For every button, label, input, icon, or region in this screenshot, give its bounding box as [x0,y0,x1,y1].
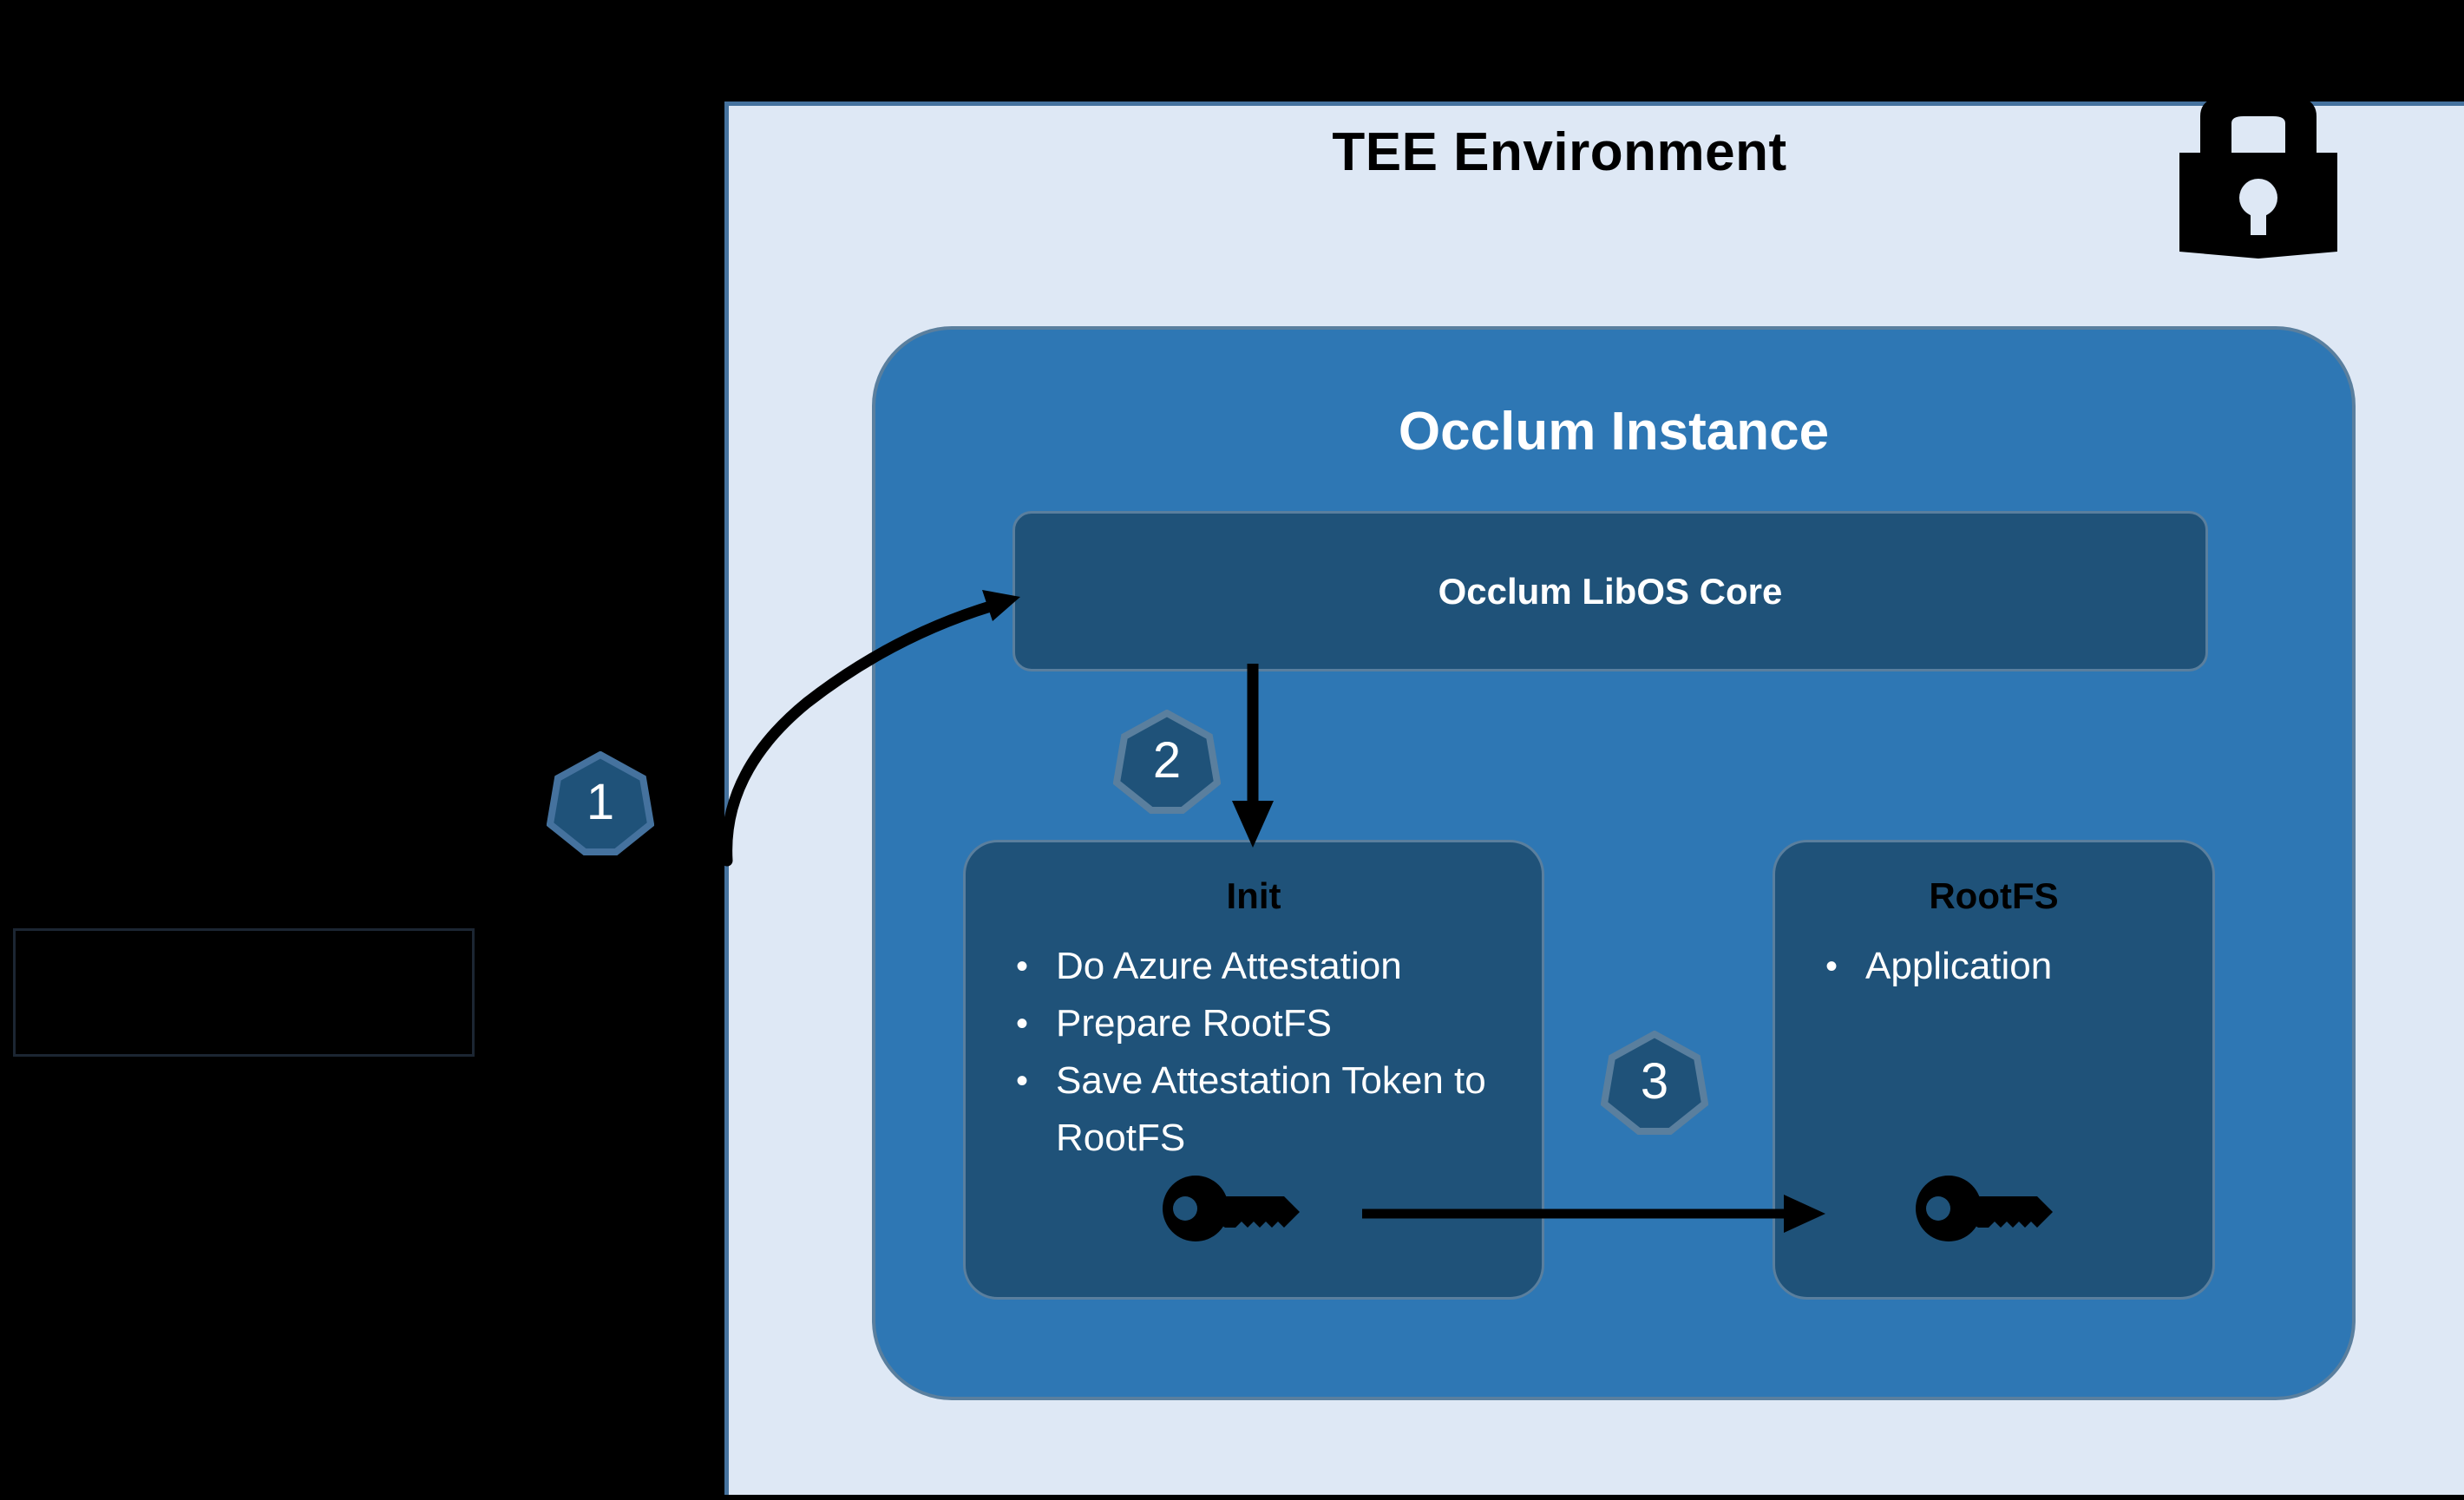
padlock-icon [2167,94,2349,259]
list-item: Do Azure Attestation [1004,938,1526,995]
occlum-libos-core-label: Occlum LibOS Core [1438,571,1783,612]
step-badge-3-label: 3 [1601,1031,1708,1135]
occlum-libos-core-box: Occlum LibOS Core [1012,511,2208,671]
occlum-instance-title: Occlum Instance [872,401,2356,462]
init-heading: Init [966,875,1542,917]
key-icon [1163,1173,1312,1244]
rootfs-heading: RootFS [1775,875,2212,917]
step-badge-2: 2 [1113,710,1221,814]
step-badge-1-label: 1 [547,751,654,855]
list-item: Prepare RootFS [1004,995,1526,1052]
init-bullet-list: Do Azure Attestation Prepare RootFS Save… [1004,938,1526,1167]
step-badge-3: 3 [1601,1031,1708,1135]
key-icon [1916,1173,2065,1244]
step-badge-1: 1 [547,751,654,855]
arrow-init-key-to-rootfs-key [1362,1187,1831,1241]
list-item: Application [1813,938,2197,995]
left-empty-box [13,928,475,1057]
diagram-canvas: TEE Environment Occlum Instance Occlum L… [0,0,2464,1500]
arrow-libos-core-to-init [1213,664,1293,850]
arrow-external-to-libos-core [677,555,1041,868]
list-item: Save Attestation Token to RootFS [1004,1052,1526,1167]
step-badge-2-label: 2 [1113,710,1221,814]
rootfs-bullet-list: Application [1813,938,2197,995]
tee-environment-title: TEE Environment [724,121,2395,183]
